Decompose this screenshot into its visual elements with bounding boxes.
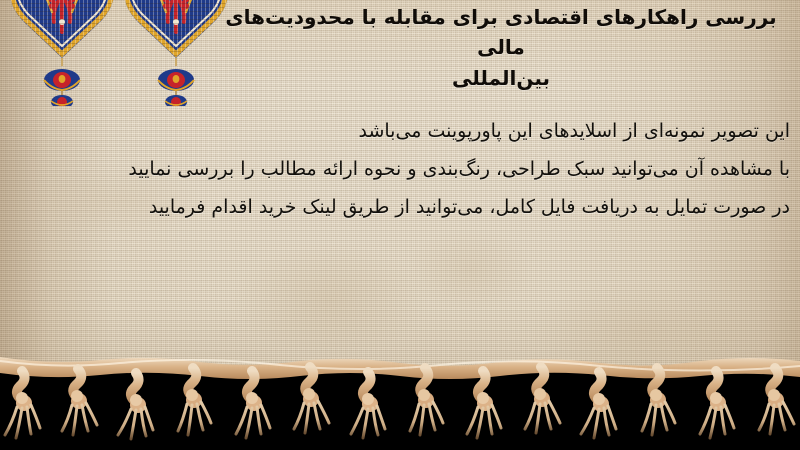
pendant-drop-motif: [44, 58, 80, 106]
presentation-slide: بررسی راهکارهای اقتصادی برای مقابله با م…: [0, 0, 800, 450]
slide-title-line-1: بررسی راهکارهای اقتصادی برای مقابله با م…: [214, 2, 788, 63]
carpet-pendant-ornament-left: [8, 0, 116, 106]
persian-medallion-icon: [8, 0, 116, 106]
slide-body: این تصویر نمونه‌ای از اسلایدهای این پاور…: [4, 112, 790, 226]
body-line-3: در صورت تمایل به دریافت فایل کامل، می‌تو…: [4, 188, 790, 226]
fringe-tassel-group: [5, 367, 794, 439]
carpet-fringe: [0, 355, 800, 450]
fringe-tassels-icon: [0, 355, 800, 450]
slide-title-line-2: بین‌المللی: [214, 63, 788, 93]
body-line-2: با مشاهده آن می‌توانید سبک طراحی، رنگ‌بن…: [4, 150, 790, 188]
pendant-drop-motif: [158, 58, 194, 106]
body-line-1: این تصویر نمونه‌ای از اسلایدهای این پاور…: [4, 112, 790, 150]
slide-title: بررسی راهکارهای اقتصادی برای مقابله با م…: [214, 2, 788, 93]
